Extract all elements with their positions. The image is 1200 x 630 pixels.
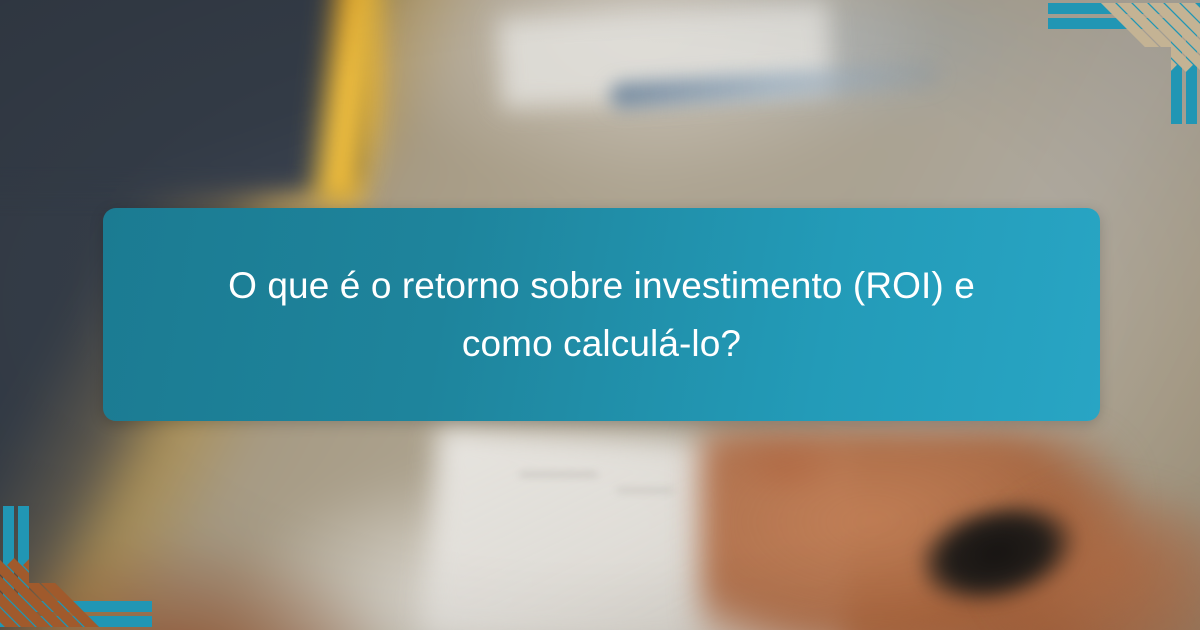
title-banner: O que é o retorno sobre investimento (RO… bbox=[103, 208, 1100, 421]
corner-ornament-top-right bbox=[1040, 0, 1200, 124]
page-title: O que é o retorno sobre investimento (RO… bbox=[217, 257, 987, 372]
share-card: O que é o retorno sobre investimento (RO… bbox=[0, 0, 1200, 630]
corner-ornament-bottom-left bbox=[0, 506, 160, 630]
